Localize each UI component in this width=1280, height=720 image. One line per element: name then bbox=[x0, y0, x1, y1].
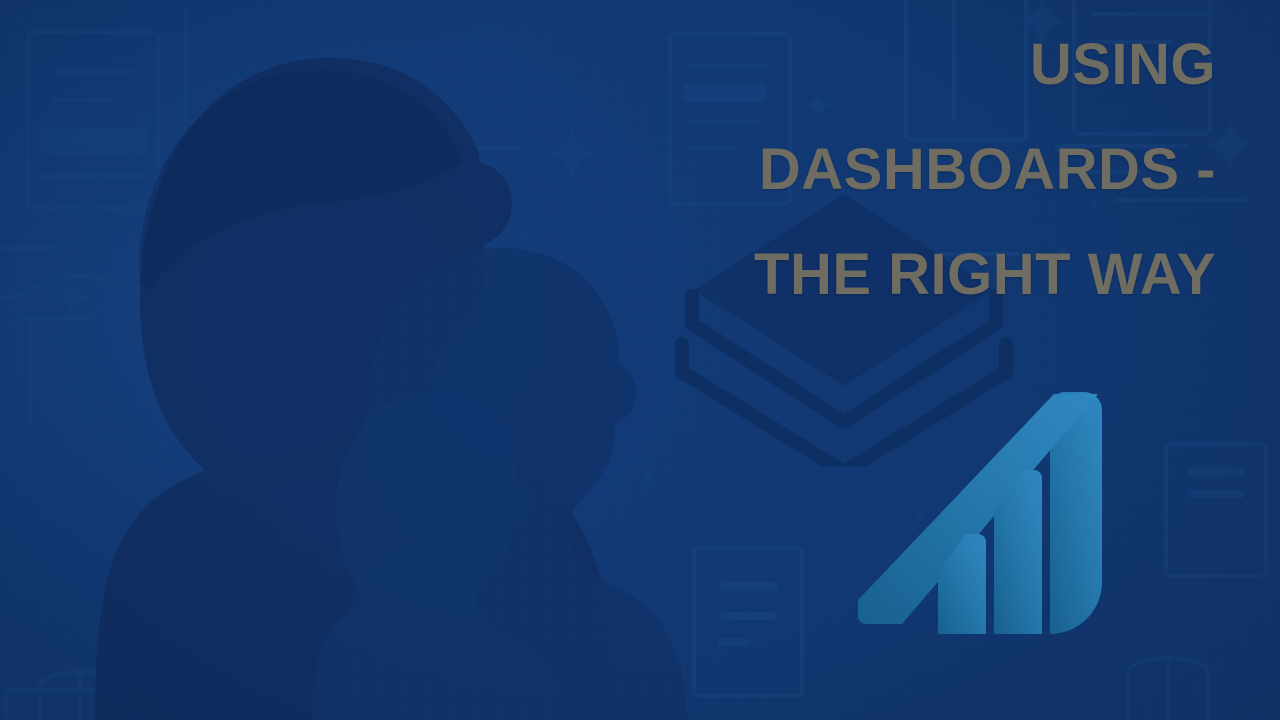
title-line-2: DASHBOARDS - bbox=[656, 117, 1216, 222]
growth-chart-logo bbox=[858, 386, 1110, 638]
title-line-1: USING bbox=[656, 12, 1216, 117]
title-slide: USING DASHBOARDS - THE RIGHT WAY bbox=[0, 0, 1280, 720]
page-title: USING DASHBOARDS - THE RIGHT WAY bbox=[656, 12, 1216, 327]
title-line-3: THE RIGHT WAY bbox=[656, 222, 1216, 327]
